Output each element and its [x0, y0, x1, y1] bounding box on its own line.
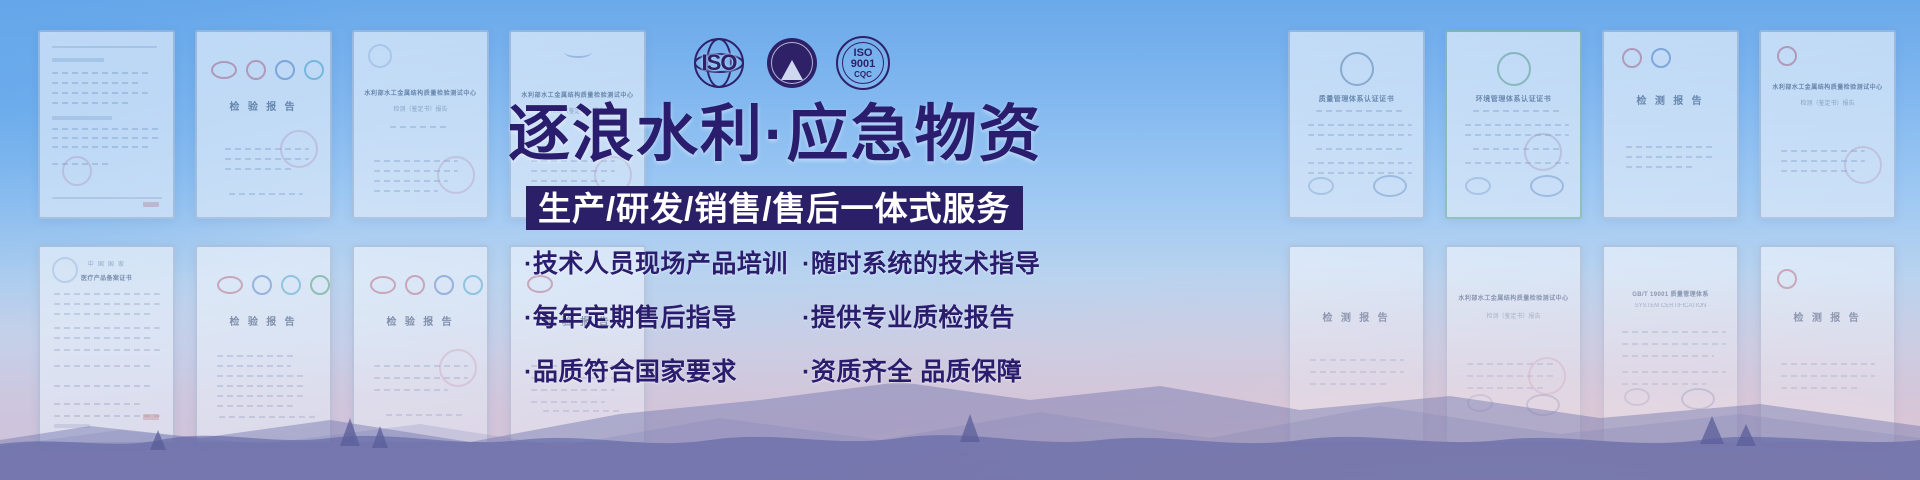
- cnas-logo-icon: [275, 60, 295, 80]
- banner-subtitle-band: 生产/研发/销售/售后一体式服务: [526, 186, 1023, 230]
- iaf-logo-icon: [1530, 175, 1564, 197]
- cnas-logo-icon: [1465, 177, 1491, 195]
- certificate-subtitle: 检测（鉴定书）报告: [1767, 98, 1888, 107]
- bullet-item: ·资质齐全 品质保障: [802, 352, 1052, 388]
- cma-logo-icon: [1622, 48, 1642, 68]
- certificate-card[interactable]: 水利部水工金属结构质量检验测试中心 检测（鉴定书）报告: [352, 30, 489, 219]
- certificate-card[interactable]: 水利部水工金属结构质量检验测试中心 检测（鉴定书）报告: [1445, 245, 1582, 444]
- certificate-title: 水利部水工金属结构质量检验测试中心: [360, 88, 481, 97]
- certificate-title: 环境管理体系认证证书: [1453, 94, 1574, 104]
- health-logo-icon: [310, 275, 330, 295]
- cnas-logo-icon: [1624, 388, 1650, 406]
- cma-logo-icon: [370, 276, 396, 294]
- certificate-title: 检 验 报 告: [203, 313, 324, 328]
- cnas-logo-icon: [1308, 177, 1334, 195]
- cnas-logo-icon: [1651, 48, 1671, 68]
- banner-subtitle: 生产/研发/销售/售后一体式服务: [538, 192, 1011, 225]
- certificate-wall: 检 验 报 告 水利部水工金属结构质量检验测试中心 检测（鉴定书）报告: [0, 0, 1920, 480]
- certificate-card[interactable]: 环境管理体系认证证书: [1445, 30, 1582, 219]
- certificate-card[interactable]: 检 验 报 告: [195, 245, 332, 444]
- cnas-logo-icon: [434, 275, 454, 295]
- certificate-card[interactable]: 检 测 报 告: [1602, 30, 1739, 219]
- cma-logo-icon: [246, 60, 266, 80]
- certificate-subtitle: 检测（鉴定书）报告: [360, 104, 481, 113]
- certificate-card[interactable]: 水利部水工金属结构质量检验测试中心 检测（鉴定书）报告: [1759, 30, 1896, 219]
- seal-ring-icon: [842, 42, 884, 84]
- certificate-card[interactable]: 检 测 报 告: [1759, 245, 1896, 444]
- certificate-title: 检 测 报 告: [1767, 309, 1888, 324]
- cal-logo-icon: [405, 275, 425, 295]
- certificate-card[interactable]: GB/T 19001 质量管理体系 SYSTEM CERTIFICATION: [1602, 245, 1739, 444]
- cqc-logo-icon: [217, 276, 243, 294]
- lab-logo-icon: [304, 60, 324, 80]
- bullet-item: ·每年定期售后指导: [524, 298, 802, 334]
- bullet-item: ·随时系统的技术指导: [802, 244, 1052, 280]
- cqc-logo-icon: [1777, 46, 1797, 66]
- certificate-title: 水利部水工金属结构质量检验测试中心: [1767, 82, 1888, 91]
- iaf-logo-icon: [1526, 394, 1560, 416]
- feature-bullet-list: ·技术人员现场产品培训 ·随时系统的技术指导 ·每年定期售后指导 ·提供专业质检…: [524, 244, 1084, 388]
- certificate-title: 检 测 报 告: [1610, 92, 1731, 107]
- tree-icon: [781, 60, 803, 80]
- iso14000-seal-badge: [767, 38, 817, 88]
- iso9001-cqc-badge: ISO 9001 CQC: [836, 36, 890, 90]
- certificate-card[interactable]: [38, 30, 175, 219]
- certificate-card[interactable]: 检 验 报 告: [195, 30, 332, 219]
- quality-system-icon: [1340, 52, 1374, 86]
- bullet-item: ·技术人员现场产品培训: [524, 244, 802, 280]
- iso-badge-label: ISO: [702, 50, 737, 76]
- certificate-title: 检 验 报 告: [203, 98, 324, 113]
- lab-logo-icon: [463, 275, 483, 295]
- certificate-card[interactable]: 中 国 国 家 医疗产品备案证书: [38, 245, 175, 444]
- cnas-logo-icon: [1467, 394, 1493, 412]
- certificate-title: 水利部水工金属结构质量检验测试中心: [1453, 293, 1574, 302]
- bullet-item: ·提供专业质检报告: [802, 298, 1052, 334]
- iaf-logo-icon: [1373, 175, 1407, 197]
- cnas-logo-icon: [252, 275, 272, 295]
- certificate-subtitle: 检测（鉴定书）报告: [1453, 311, 1574, 320]
- certificate-card[interactable]: 检 验 报 告: [352, 245, 489, 444]
- cqc-logo-icon: [211, 61, 237, 79]
- lab-logo-icon: [281, 275, 301, 295]
- banner-title: 逐浪水利·应急物资: [508, 100, 1408, 169]
- promo-banner: 检 验 报 告 水利部水工金属结构质量检验测试中心 检测（鉴定书）报告: [0, 0, 1920, 480]
- bullet-item: ·品质符合国家要求: [524, 352, 802, 388]
- iaf-logo-icon: [1681, 388, 1715, 410]
- iso-globe-badge: ISO: [690, 38, 748, 88]
- cqc-logo-icon: [1777, 269, 1797, 289]
- certificate-title: 检 验 报 告: [360, 313, 481, 328]
- certification-badges: ISO ISO 9001 CQC: [690, 34, 890, 92]
- certificate-title: 水利部水工金属结构质量检验测试中心: [517, 90, 638, 99]
- certificate-title: 检 测 报 告: [1296, 309, 1417, 324]
- certificate-card[interactable]: 检 测 报 告: [1288, 245, 1425, 444]
- certificate-title: 医疗产品备案证书: [46, 273, 167, 282]
- environment-system-icon: [1497, 52, 1531, 86]
